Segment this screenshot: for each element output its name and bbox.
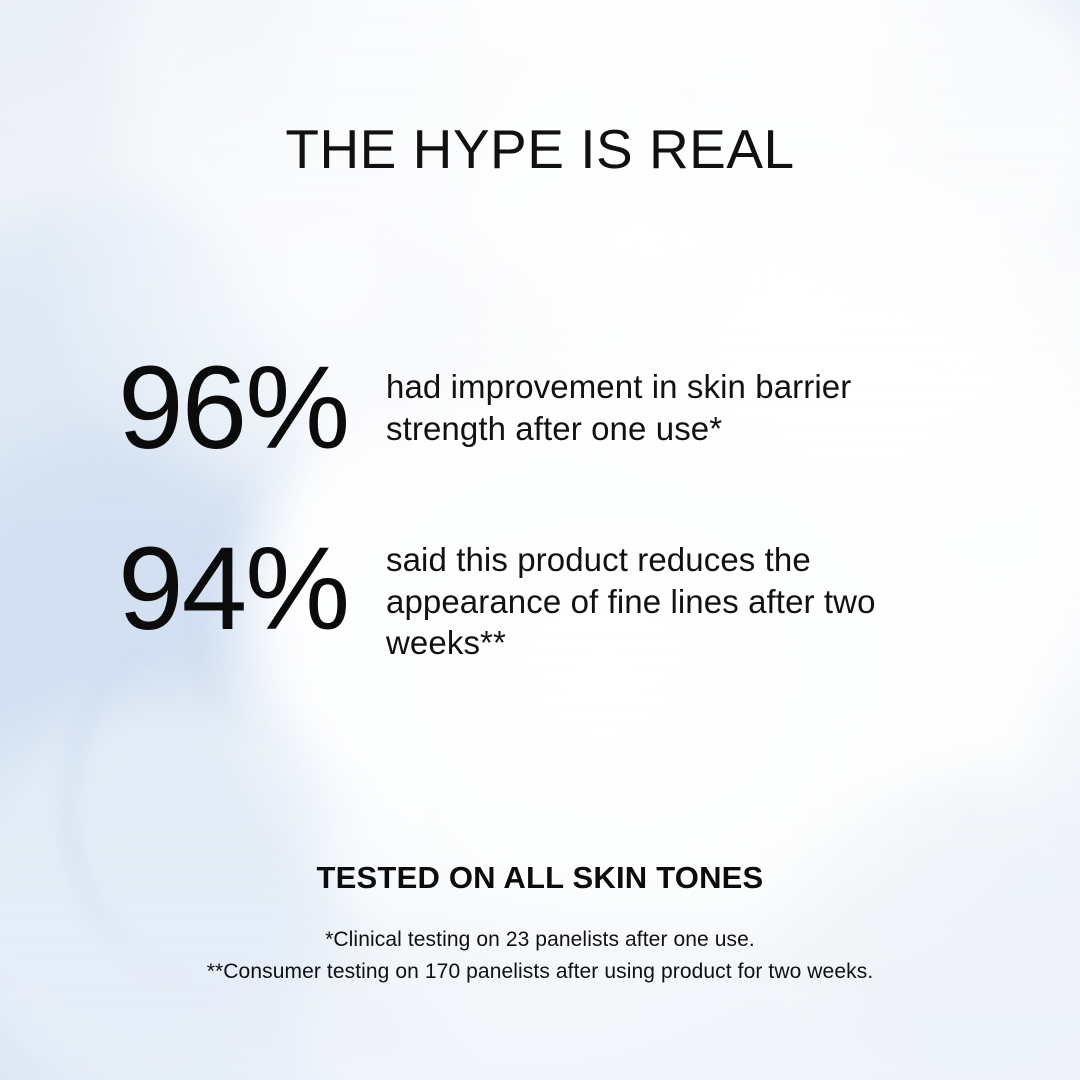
footnote-consumer-testing: **Consumer testing on 170 panelists afte… bbox=[0, 956, 1080, 988]
tested-on-all-skin-tones-label: TESTED ON ALL SKIN TONES bbox=[0, 862, 1080, 893]
stat-block-fine-lines: 94% said this product reduces the appear… bbox=[118, 533, 946, 664]
stat-percentage: 96% bbox=[118, 352, 386, 464]
page-title: THE HYPE IS REAL bbox=[0, 122, 1080, 177]
stat-description: had improvement in skin barrier strength… bbox=[386, 352, 946, 449]
content-layer: THE HYPE IS REAL 96% had improvement in … bbox=[0, 0, 1080, 1080]
stat-block-skin-barrier: 96% had improvement in skin barrier stre… bbox=[118, 352, 946, 464]
marketing-claims-graphic: THE HYPE IS REAL 96% had improvement in … bbox=[0, 0, 1080, 1080]
stat-description: said this product reduces the appearance… bbox=[386, 533, 946, 664]
footnotes: *Clinical testing on 23 panelists after … bbox=[0, 924, 1080, 988]
footnote-clinical-testing: *Clinical testing on 23 panelists after … bbox=[0, 924, 1080, 956]
stat-percentage: 94% bbox=[118, 533, 386, 645]
